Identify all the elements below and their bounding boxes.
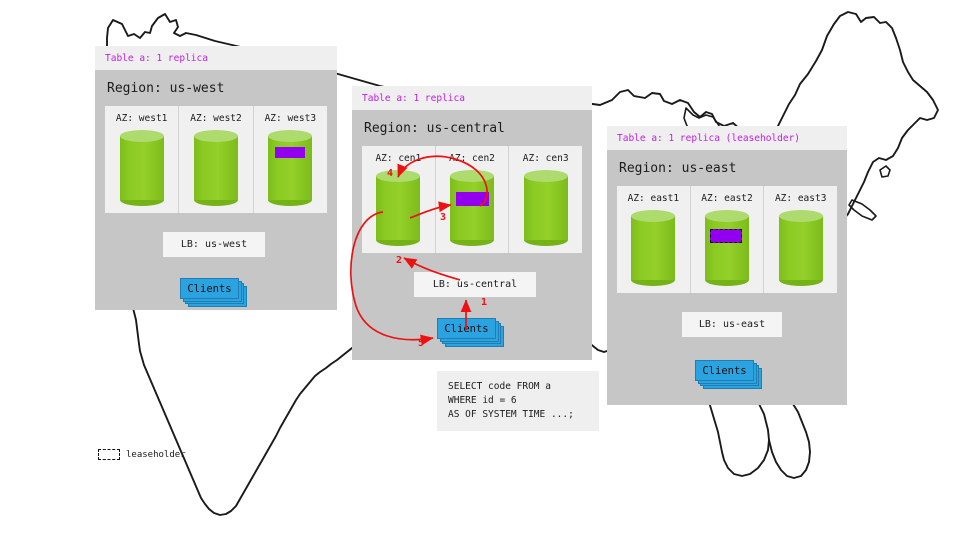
node-cylinder[interactable]	[376, 170, 420, 246]
region-panel-us-west: Table a: 1 replica Region: us-west AZ: w…	[95, 46, 337, 310]
az-west1[interactable]: AZ: west1	[105, 106, 179, 213]
az-east1[interactable]: AZ: east1	[617, 186, 691, 293]
region-title-us-east: Table a: 1 replica (leaseholder)	[607, 126, 847, 150]
cylinder-top	[268, 130, 312, 142]
az-west2[interactable]: AZ: west2	[179, 106, 253, 213]
replica-block[interactable]	[456, 192, 489, 206]
az-label: AZ: west1	[105, 113, 178, 124]
region-title-us-west: Table a: 1 replica	[95, 46, 337, 70]
region-name-us-west: Region: us-west	[95, 70, 337, 106]
clients-stack-us-west[interactable]: Clients	[180, 278, 248, 308]
clients-label[interactable]: Clients	[695, 360, 754, 381]
region-name-us-east: Region: us-east	[607, 150, 847, 186]
clients-label[interactable]: Clients	[180, 278, 239, 299]
node-cylinder[interactable]	[268, 130, 312, 206]
node-cylinder[interactable]	[631, 210, 675, 286]
clients-stack-us-east[interactable]: Clients	[695, 360, 763, 390]
flow-step-5: 5	[418, 338, 424, 349]
cylinder-side	[268, 136, 312, 200]
diagram-canvas: Table a: 1 replica Region: us-west AZ: w…	[0, 0, 960, 540]
load-balancer-us-east[interactable]: LB: us-east	[682, 312, 782, 337]
clients-label[interactable]: Clients	[437, 318, 496, 339]
az-row-us-west: AZ: west1 AZ: west2 AZ	[105, 106, 327, 213]
az-east3[interactable]: AZ: east3	[764, 186, 837, 293]
cylinder-side	[705, 216, 749, 280]
az-west3[interactable]: AZ: west3	[254, 106, 327, 213]
region-name-us-central: Region: us-central	[352, 110, 592, 146]
region-title-us-central: Table a: 1 replica	[352, 86, 592, 110]
az-label: AZ: cen3	[509, 153, 582, 164]
az-label: AZ: cen2	[436, 153, 509, 164]
cylinder-side	[450, 176, 494, 240]
legend-label: leaseholder	[126, 450, 186, 460]
replica-block[interactable]	[275, 147, 305, 158]
flow-step-4: 4	[387, 168, 393, 179]
cylinder-top	[631, 210, 675, 222]
node-cylinder[interactable]	[450, 170, 494, 246]
cylinder-top	[524, 170, 568, 182]
node-cylinder[interactable]	[524, 170, 568, 246]
cylinder-top	[120, 130, 164, 142]
az-label: AZ: west3	[254, 113, 327, 124]
az-east2[interactable]: AZ: east2	[691, 186, 765, 293]
dashed-box-swatch	[98, 449, 120, 460]
load-balancer-us-west[interactable]: LB: us-west	[163, 232, 265, 257]
az-row-us-central: AZ: cen1 AZ: cen2	[362, 146, 582, 253]
region-panel-us-central: Table a: 1 replica Region: us-central AZ…	[352, 86, 592, 360]
az-cen1[interactable]: AZ: cen1	[362, 146, 436, 253]
az-label: AZ: cen1	[362, 153, 435, 164]
cylinder-top	[779, 210, 823, 222]
load-balancer-us-central[interactable]: LB: us-central	[414, 272, 536, 297]
cylinder-top	[705, 210, 749, 222]
cylinder-top	[376, 170, 420, 182]
az-label: AZ: east3	[764, 193, 837, 204]
az-label: AZ: west2	[179, 113, 252, 124]
cylinder-top	[194, 130, 238, 142]
az-label: AZ: east1	[617, 193, 690, 204]
region-panel-us-east: Table a: 1 replica (leaseholder) Region:…	[607, 126, 847, 405]
cylinder-top	[450, 170, 494, 182]
legend-leaseholder: leaseholder	[98, 449, 186, 460]
node-cylinder[interactable]	[779, 210, 823, 286]
flow-step-3: 3	[440, 212, 446, 223]
sql-query-box: SELECT code FROM a WHERE id = 6 AS OF SY…	[437, 371, 599, 431]
flow-step-2: 2	[396, 255, 402, 266]
az-row-us-east: AZ: east1 AZ: east2	[617, 186, 837, 293]
az-cen2[interactable]: AZ: cen2	[436, 146, 510, 253]
cylinder-side	[524, 176, 568, 240]
clients-stack-us-central[interactable]: Clients	[437, 318, 505, 348]
az-label: AZ: east2	[691, 193, 764, 204]
cylinder-side	[779, 216, 823, 280]
cylinder-side	[631, 216, 675, 280]
az-cen3[interactable]: AZ: cen3	[509, 146, 582, 253]
node-cylinder[interactable]	[120, 130, 164, 206]
cylinder-side	[120, 136, 164, 200]
node-cylinder[interactable]	[705, 210, 749, 286]
replica-block-leaseholder[interactable]	[710, 229, 742, 243]
flow-step-1: 1	[481, 297, 487, 308]
node-cylinder[interactable]	[194, 130, 238, 206]
cylinder-side	[376, 176, 420, 240]
cylinder-side	[194, 136, 238, 200]
